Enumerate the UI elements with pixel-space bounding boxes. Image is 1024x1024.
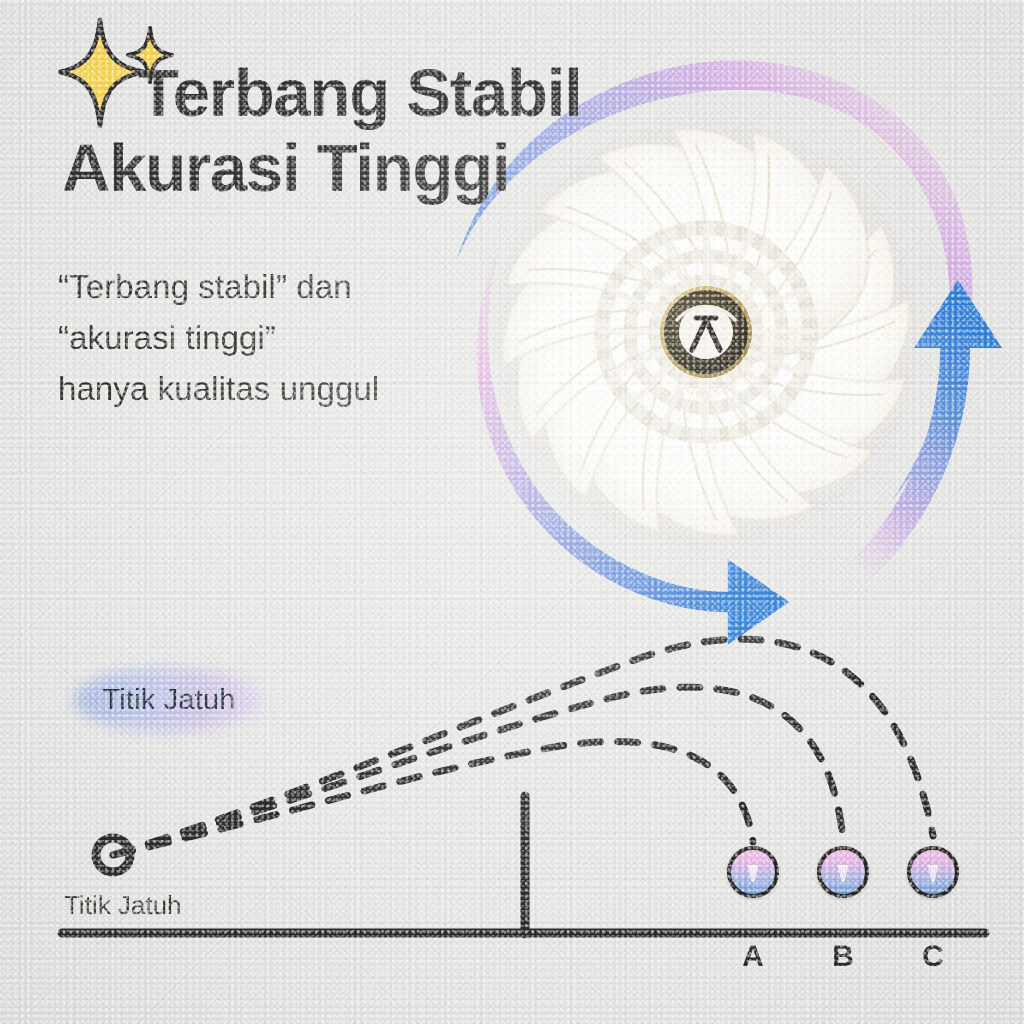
landing-label-c: C <box>922 940 944 974</box>
headline-line-2: Akurasi Tinggi <box>62 131 582 206</box>
subtitle-line-1: “Terbang stabil” dan <box>58 262 379 313</box>
trajectory-diagram <box>0 600 1024 1024</box>
subtitle-line-2: “akurasi tinggi” <box>58 313 379 364</box>
shuttle-glyph-a <box>740 859 766 885</box>
titik-jatuh-axis-label: Titik Jatuh <box>64 890 182 921</box>
subtitle-line-3: hanya kualitas unggul <box>58 364 379 415</box>
sparkle-icon <box>58 14 180 130</box>
titik-jatuh-badge-label: Titik Jatuh <box>102 684 235 717</box>
landing-label-b: B <box>832 940 854 974</box>
titik-jatuh-badge: Titik Jatuh <box>74 668 264 732</box>
landing-marker-c[interactable] <box>907 846 959 898</box>
shuttle-glyph-c <box>920 859 946 885</box>
landing-marker-a[interactable] <box>727 846 779 898</box>
landing-label-a: A <box>742 940 764 974</box>
poster-canvas: AIMETIME Terbang Stabil Akurasi Tinggi “… <box>0 0 1024 1024</box>
shuttle-glyph-b <box>830 859 856 885</box>
subtitle: “Terbang stabil” dan “akurasi tinggi” ha… <box>58 262 379 414</box>
landing-marker-b[interactable] <box>817 846 869 898</box>
trajectory-a <box>113 742 753 855</box>
